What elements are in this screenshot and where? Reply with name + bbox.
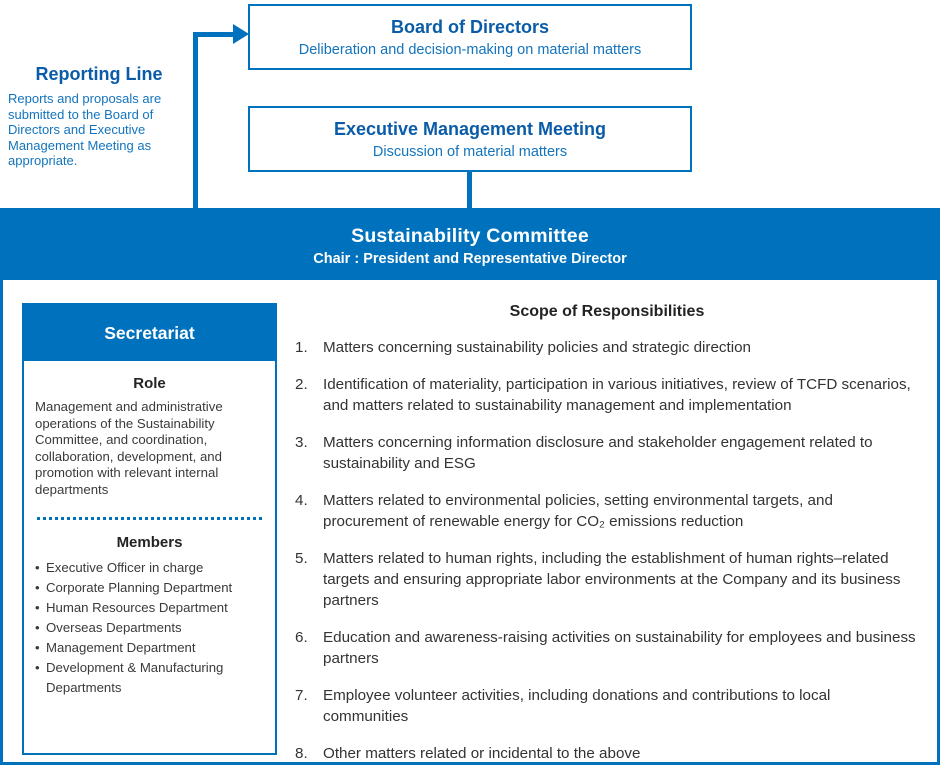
executive-management-meeting-subtitle: Discussion of material matters <box>373 142 567 162</box>
sustainability-committee-title: Sustainability Committee <box>351 223 589 249</box>
secretariat-members-heading: Members <box>35 534 264 551</box>
list-item-text: Matters concerning information disclosur… <box>323 434 873 472</box>
org-chart-diagram: Reporting Line Reports and proposals are… <box>0 0 940 765</box>
list-item: 5.Matters related to human rights, inclu… <box>295 548 919 611</box>
list-item-text: Matters related to human rights, includi… <box>323 550 900 609</box>
scope-list: 1.Matters concerning sustainability poli… <box>295 337 919 764</box>
list-item: 3.Matters concerning information disclos… <box>295 432 919 474</box>
scope-of-responsibilities-section: Scope of Responsibilities 1.Matters conc… <box>295 303 919 764</box>
list-item-number: 8. <box>295 743 317 764</box>
reporting-line-body: Reports and proposals are submitted to t… <box>8 91 190 169</box>
secretariat-content: Role Management and administrative opera… <box>24 361 275 708</box>
list-item-number: 7. <box>295 685 317 706</box>
connector-horizontal-to-board <box>193 32 237 37</box>
list-item-number: 2. <box>295 374 317 395</box>
secretariat-role-text: Management and administrative operations… <box>35 399 264 499</box>
reporting-line-annotation: Reporting Line Reports and proposals are… <box>8 62 190 169</box>
list-item-number: 3. <box>295 432 317 453</box>
list-item-number: 4. <box>295 490 317 511</box>
sustainability-committee-panel: Sustainability Committee Chair : Preside… <box>0 208 940 765</box>
list-item: Overseas Departments <box>35 618 264 638</box>
secretariat-members-list: Executive Officer in chargeCorporate Pla… <box>35 558 264 698</box>
panel-body: Secretariat Role Management and administ… <box>3 280 937 762</box>
list-item-number: 5. <box>295 548 317 569</box>
secretariat-card: Secretariat Role Management and administ… <box>22 303 277 755</box>
list-item: Management Department <box>35 638 264 658</box>
list-item: Executive Officer in charge <box>35 558 264 578</box>
connector-vertical-committee-to-board <box>193 32 198 210</box>
list-item-text: Other matters related or incidental to t… <box>323 745 640 762</box>
list-item: 2.Identification of materiality, partici… <box>295 374 919 416</box>
list-item: 8.Other matters related or incidental to… <box>295 743 919 764</box>
list-item-text: Education and awareness-raising activiti… <box>323 629 916 667</box>
executive-management-meeting-box: Executive Management Meeting Discussion … <box>248 106 692 172</box>
sustainability-committee-banner: Sustainability Committee Chair : Preside… <box>3 211 937 280</box>
scope-title: Scope of Responsibilities <box>295 303 919 321</box>
list-item-text: Matters concerning sustainability polici… <box>323 339 751 356</box>
list-item-text: Matters related to environmental policie… <box>323 492 833 530</box>
list-item: 4.Matters related to environmental polic… <box>295 490 919 532</box>
board-of-directors-title: Board of Directors <box>391 15 549 39</box>
list-item: 1.Matters concerning sustainability poli… <box>295 337 919 358</box>
connector-vertical-emm-to-committee <box>467 171 472 210</box>
secretariat-header: Secretariat <box>24 305 275 361</box>
board-of-directors-box: Board of Directors Deliberation and deci… <box>248 4 692 70</box>
list-item-number: 1. <box>295 337 317 358</box>
list-item: 6.Education and awareness-raising activi… <box>295 627 919 669</box>
list-item: Corporate Planning Department <box>35 578 264 598</box>
list-item: 7.Employee volunteer activities, includi… <box>295 685 919 727</box>
list-item-number: 6. <box>295 627 317 648</box>
arrow-head-icon <box>233 24 249 44</box>
list-item: Human Resources Department <box>35 598 264 618</box>
sustainability-committee-chair: Chair : President and Representative Dir… <box>313 250 626 269</box>
secretariat-divider <box>37 517 262 520</box>
reporting-line-title: Reporting Line <box>8 62 190 86</box>
list-item: Development & Manufacturing Departments <box>35 658 264 698</box>
secretariat-role-heading: Role <box>35 375 264 392</box>
list-item-text: Identification of materiality, participa… <box>323 376 911 414</box>
executive-management-meeting-title: Executive Management Meeting <box>334 117 606 141</box>
board-of-directors-subtitle: Deliberation and decision-making on mate… <box>299 40 642 60</box>
list-item-text: Employee volunteer activities, including… <box>323 687 830 725</box>
